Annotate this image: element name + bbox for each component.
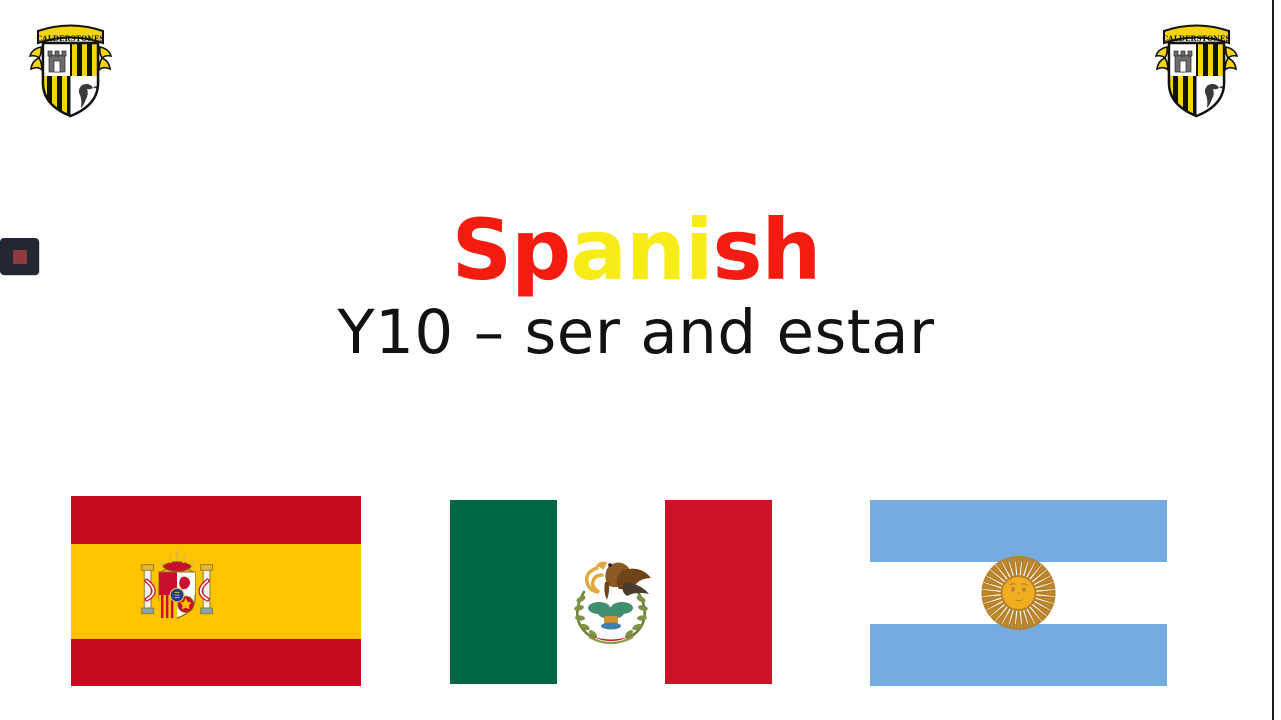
band-white xyxy=(557,500,665,684)
castle-gate-icon xyxy=(48,51,66,72)
crest-banner-text: CALDERSTONES xyxy=(36,34,104,43)
slide-right-border xyxy=(1272,0,1274,720)
title-segment-yellow: ani xyxy=(570,201,712,299)
crest-banner-text: CALDERSTONES xyxy=(1162,34,1230,43)
school-crest-right: CALDERSTONES xyxy=(1152,17,1241,122)
slide-canvas: CALDERSTONES xyxy=(0,0,1281,720)
page-subtitle: Y10 – ser and estar xyxy=(0,302,1272,363)
stripe-middle xyxy=(71,544,361,639)
title-segment-red-2: sh xyxy=(713,201,821,299)
band-green xyxy=(450,500,557,684)
stripe-top xyxy=(870,500,1167,562)
stripe-top xyxy=(71,496,361,544)
crest-banner: CALDERSTONES xyxy=(1162,26,1230,44)
crest-shield-body xyxy=(30,43,111,116)
title-segment-red-1: Sp xyxy=(452,201,571,299)
stripe-bottom xyxy=(870,624,1167,686)
crest-shield-body xyxy=(1156,43,1237,116)
flag-mexico xyxy=(450,500,772,684)
flag-spain xyxy=(71,496,361,686)
crest-banner: CALDERSTONES xyxy=(36,26,104,44)
flag-argentina xyxy=(870,500,1167,686)
sun-of-may-icon xyxy=(983,557,1055,629)
castle-gate-icon xyxy=(1174,51,1192,72)
title-block: Spanish Y10 – ser and estar xyxy=(0,208,1272,363)
school-crest-left: CALDERSTONES xyxy=(26,17,115,122)
page-title: Spanish xyxy=(0,208,1272,292)
stripe-bottom xyxy=(71,639,361,686)
band-red xyxy=(665,500,772,684)
